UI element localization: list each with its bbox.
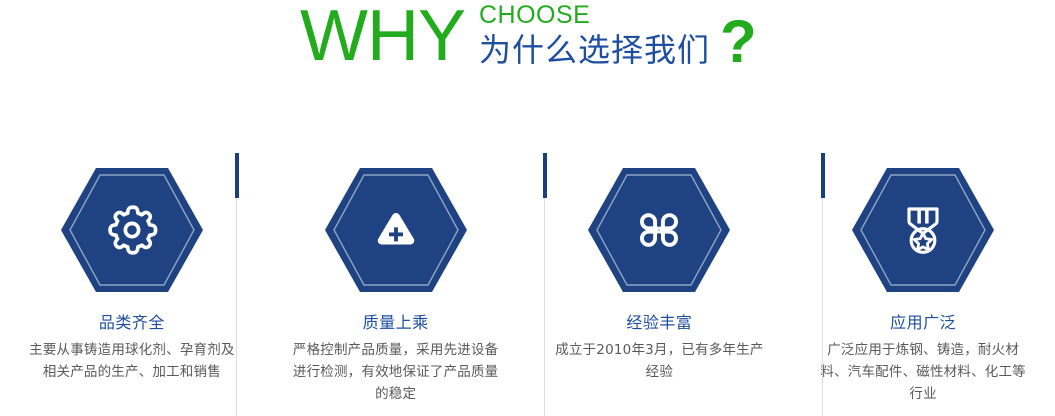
feature-card-body: 主要从事铸造用球化剂、孕育剂及相关产品的生产、加工和销售	[24, 339, 240, 383]
divider-grey-segment	[822, 198, 823, 416]
feature-card-list: 品类齐全 主要从事铸造用球化剂、孕育剂及相关产品的生产、加工和销售 质量上乘 严…	[0, 150, 1055, 416]
header-text-stack: CHOOSE 为什么选择我们	[479, 2, 710, 69]
divider-blue-segment	[543, 153, 547, 198]
choose-word: CHOOSE	[479, 2, 710, 29]
divider-blue-segment	[821, 153, 825, 198]
feature-card: 品类齐全 主要从事铸造用球化剂、孕育剂及相关产品的生产、加工和销售	[0, 150, 264, 416]
feature-card-title: 品类齐全	[99, 313, 165, 333]
feature-card-body: 严格控制产品质量，采用先进设备进行检测，有效地保证了产品质量的稳定	[288, 339, 504, 405]
clover-icon	[631, 202, 687, 258]
feature-card-body: 广泛应用于炼钢、铸造，耐火材料、汽车配件、磁性材料、化工等行业	[815, 339, 1031, 405]
gear-icon	[104, 202, 160, 258]
feature-card-body: 成立于2010年3月，已有多年生产经验	[551, 339, 767, 383]
hexagon-badge	[324, 167, 468, 293]
question-mark: ?	[720, 12, 757, 72]
why-word: WHY	[300, 0, 465, 72]
hexagon-badge	[60, 167, 204, 293]
divider-grey-segment	[236, 198, 237, 416]
feature-card: 应用广泛 广泛应用于炼钢、铸造，耐火材料、汽车配件、磁性材料、化工等行业	[791, 150, 1055, 416]
divider-grey-segment	[544, 198, 545, 416]
feature-card: 经验丰富 成立于2010年3月，已有多年生产经验	[528, 150, 792, 416]
divider-blue-segment	[235, 153, 239, 198]
column-divider	[235, 153, 239, 416]
hexagon-badge	[851, 167, 995, 293]
feature-card-title: 经验丰富	[626, 313, 692, 333]
feature-card-title: 质量上乘	[363, 313, 429, 333]
column-divider	[821, 153, 825, 416]
page-title: 为什么选择我们	[479, 31, 710, 69]
medal-star-icon	[895, 202, 951, 258]
header-title-group: WHY CHOOSE 为什么选择我们 ?	[300, 0, 757, 72]
page-header: WHY CHOOSE 为什么选择我们 ?	[0, 0, 1055, 95]
hexagon-badge	[587, 167, 731, 293]
feature-card-title: 应用广泛	[890, 313, 956, 333]
feature-card: 质量上乘 严格控制产品质量，采用先进设备进行检测，有效地保证了产品质量的稳定	[264, 150, 528, 416]
triangle-plus-icon	[368, 202, 424, 258]
column-divider	[543, 153, 547, 416]
